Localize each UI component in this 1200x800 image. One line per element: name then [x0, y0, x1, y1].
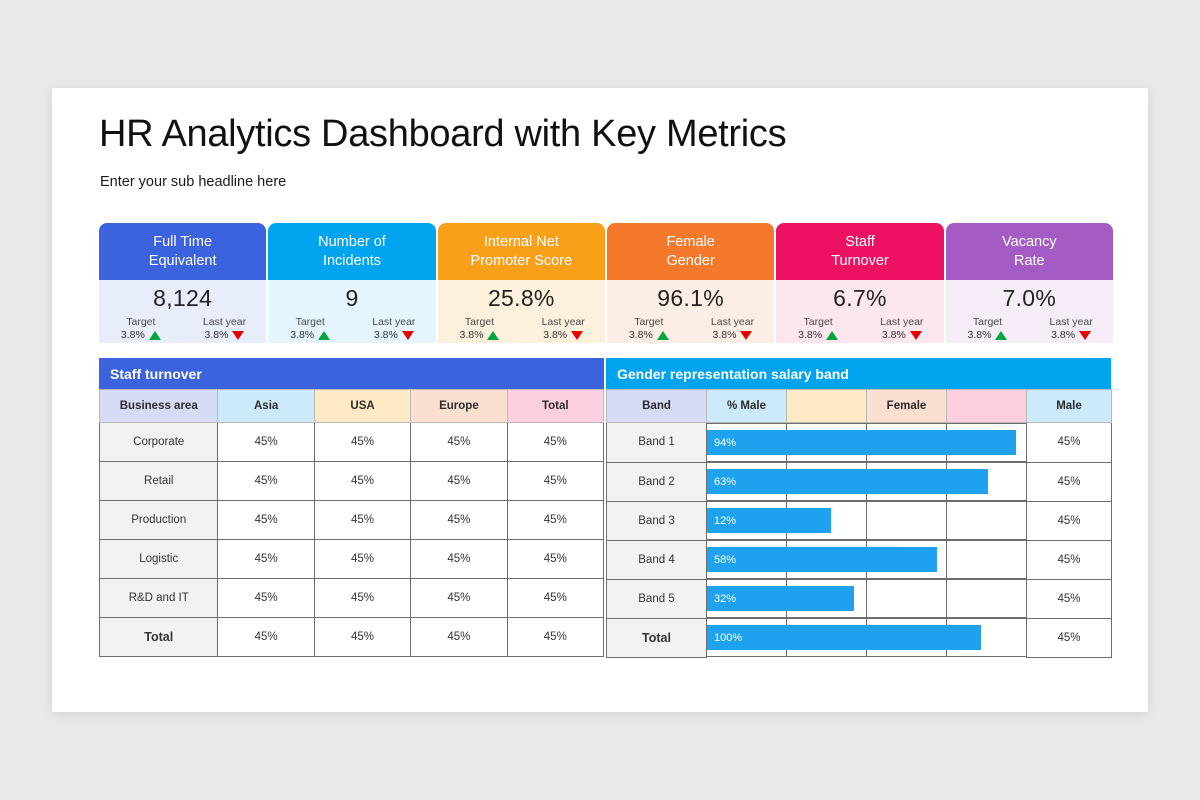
table-cell: 45% — [411, 423, 507, 462]
kpi-lastyear-comparison: 3.8% — [521, 329, 605, 343]
gridline — [947, 541, 1026, 578]
bar-track: 100% — [707, 618, 1026, 657]
table-header-row: Business areaAsiaUSAEuropeTotal — [100, 390, 604, 423]
kpi-target-comparison: 3.8% — [946, 329, 1030, 343]
kpi-lastyear-comparison: 3.8% — [1029, 329, 1113, 343]
table-row: Total45%45%45%45% — [100, 618, 604, 657]
arrow-down-icon — [1079, 331, 1091, 340]
kpi-title-line1: Number of — [318, 234, 386, 250]
row-label: Band 5 — [607, 579, 707, 618]
arrow-down-icon — [740, 331, 752, 340]
kpi-lastyear-block: Last year3.8% — [352, 315, 436, 343]
kpi-target-block: Target3.8% — [438, 315, 522, 343]
page-subtitle: Enter your sub headline here — [100, 174, 286, 190]
kpi-title-line2: Promoter Score — [471, 253, 573, 269]
table-cell: 45% — [507, 501, 603, 540]
kpi-card-row: Full TimeEquivalent8,124Target3.8%Last y… — [99, 223, 1113, 343]
kpi-target-comparison: 3.8% — [607, 329, 691, 343]
row-label: Band 3 — [607, 501, 707, 540]
kpi-card[interactable]: Full TimeEquivalent8,124Target3.8%Last y… — [99, 223, 266, 343]
kpi-card-header: Internal NetPromoter Score — [438, 223, 605, 280]
kpi-card-body: 8,124Target3.8%Last year3.8% — [99, 280, 266, 343]
table-cell: 45% — [411, 540, 507, 579]
arrow-up-icon — [318, 331, 330, 340]
arrow-up-icon — [657, 331, 669, 340]
row-label: Total — [607, 618, 707, 657]
row-label: Total — [100, 618, 218, 657]
column-header[interactable]: Female — [867, 390, 947, 423]
table-cell: 45% — [411, 462, 507, 501]
kpi-target-label: Target — [99, 315, 183, 329]
staff-turnover-title: Staff turnover — [99, 358, 604, 389]
table-cell: 45% — [411, 501, 507, 540]
kpi-title-line2: Gender — [666, 253, 714, 269]
kpi-target-comparison: 3.8% — [776, 329, 860, 343]
column-header[interactable]: Total — [507, 390, 603, 423]
arrow-up-icon — [149, 331, 161, 340]
gridline — [947, 580, 1026, 617]
bar-value-label: 63% — [707, 476, 736, 488]
table-cell: 45% — [507, 579, 603, 618]
row-label: Band 4 — [607, 540, 707, 579]
arrow-down-icon — [402, 331, 414, 340]
kpi-lastyear-value: 3.8% — [205, 329, 229, 343]
kpi-target-label: Target — [946, 315, 1030, 329]
bar-chart-cell: 63% — [707, 462, 1027, 501]
kpi-title-line2: Turnover — [831, 253, 888, 269]
table-row: Band 312%45% — [607, 501, 1112, 540]
arrow-up-icon — [995, 331, 1007, 340]
arrow-down-icon — [910, 331, 922, 340]
table-row: Band 194%45% — [607, 423, 1112, 463]
kpi-target-block: Target3.8% — [268, 315, 352, 343]
table-cell: 45% — [218, 501, 314, 540]
table-cell: 45% — [314, 540, 410, 579]
bar-value-label: 12% — [707, 515, 736, 527]
kpi-target-value: 3.8% — [460, 329, 484, 343]
kpi-lastyear-comparison: 3.8% — [860, 329, 944, 343]
kpi-comparison-row: Target3.8%Last year3.8% — [438, 315, 605, 343]
bar-value-label: 100% — [707, 632, 742, 644]
column-header[interactable] — [787, 390, 867, 423]
bar-chart-cell: 100% — [707, 618, 1027, 657]
column-header[interactable]: USA — [314, 390, 410, 423]
kpi-target-value: 3.8% — [629, 329, 653, 343]
table-cell: 45% — [314, 579, 410, 618]
column-header[interactable]: Band — [607, 390, 707, 423]
column-header[interactable]: Europe — [411, 390, 507, 423]
kpi-target-label: Target — [607, 315, 691, 329]
kpi-card-body: 96.1%Target3.8%Last year3.8% — [607, 280, 774, 343]
table-cell: 45% — [411, 618, 507, 657]
tables-region: Staff turnover Business areaAsiaUSAEurop… — [99, 358, 1113, 658]
kpi-target-comparison: 3.8% — [99, 329, 183, 343]
kpi-comparison-row: Target3.8%Last year3.8% — [99, 315, 266, 343]
table-row: Production45%45%45%45% — [100, 501, 604, 540]
arrow-up-icon — [826, 331, 838, 340]
kpi-title-line2: Rate — [1014, 253, 1045, 269]
kpi-target-block: Target3.8% — [946, 315, 1030, 343]
kpi-target-value: 3.8% — [968, 329, 992, 343]
bar-chart-cell: 12% — [707, 501, 1027, 540]
kpi-lastyear-label: Last year — [183, 315, 267, 329]
staff-turnover-table: Business areaAsiaUSAEuropeTotal Corporat… — [99, 389, 604, 657]
bar-fill: 12% — [707, 508, 831, 533]
kpi-lastyear-value: 3.8% — [543, 329, 567, 343]
table-cell: 45% — [1027, 540, 1112, 579]
row-label: Production — [100, 501, 218, 540]
table-cell: 45% — [1027, 462, 1112, 501]
kpi-card[interactable]: Internal NetPromoter Score25.8%Target3.8… — [438, 223, 605, 343]
row-label: Retail — [100, 462, 218, 501]
kpi-target-comparison: 3.8% — [268, 329, 352, 343]
staff-turnover-panel: Staff turnover Business areaAsiaUSAEurop… — [99, 358, 604, 658]
kpi-comparison-row: Target3.8%Last year3.8% — [946, 315, 1113, 343]
kpi-value: 6.7% — [833, 285, 887, 312]
kpi-lastyear-block: Last year3.8% — [521, 315, 605, 343]
table-cell: 45% — [1027, 618, 1112, 657]
table-row: Band 263%45% — [607, 462, 1112, 501]
table-header-row: Band% MaleFemaleMale — [607, 390, 1112, 423]
table-cell: 45% — [314, 423, 410, 462]
kpi-lastyear-label: Last year — [1029, 315, 1113, 329]
bar-fill: 58% — [707, 547, 937, 572]
kpi-card-body: 9Target3.8%Last year3.8% — [268, 280, 435, 343]
kpi-lastyear-value: 3.8% — [882, 329, 906, 343]
kpi-target-label: Target — [268, 315, 352, 329]
table-cell: 45% — [507, 423, 603, 462]
kpi-lastyear-block: Last year3.8% — [691, 315, 775, 343]
kpi-value: 7.0% — [1002, 285, 1056, 312]
kpi-lastyear-comparison: 3.8% — [183, 329, 267, 343]
table-row: Retail45%45%45%45% — [100, 462, 604, 501]
kpi-target-value: 3.8% — [798, 329, 822, 343]
kpi-lastyear-label: Last year — [860, 315, 944, 329]
kpi-lastyear-comparison: 3.8% — [691, 329, 775, 343]
kpi-title-line1: Staff — [845, 234, 875, 250]
kpi-comparison-row: Target3.8%Last year3.8% — [607, 315, 774, 343]
slide-canvas: HR Analytics Dashboard with Key Metrics … — [52, 88, 1148, 712]
row-label: Band 2 — [607, 462, 707, 501]
bar-fill: 63% — [707, 469, 988, 494]
kpi-card-body: 6.7%Target3.8%Last year3.8% — [776, 280, 943, 343]
column-header[interactable]: Business area — [100, 390, 218, 423]
column-header[interactable]: Male — [1027, 390, 1112, 423]
table-cell: 45% — [218, 579, 314, 618]
kpi-lastyear-value: 3.8% — [1051, 329, 1075, 343]
table-row: Band 532%45% — [607, 579, 1112, 618]
table-cell: 45% — [218, 423, 314, 462]
kpi-card-body: 25.8%Target3.8%Last year3.8% — [438, 280, 605, 343]
kpi-lastyear-label: Last year — [691, 315, 775, 329]
kpi-target-label: Target — [438, 315, 522, 329]
bar-fill: 100% — [707, 625, 981, 650]
bar-fill: 32% — [707, 586, 854, 611]
table-cell: 45% — [314, 618, 410, 657]
bar-track: 32% — [707, 579, 1026, 618]
table-row: Total100%45% — [607, 618, 1112, 657]
table-cell: 45% — [507, 540, 603, 579]
gridline — [867, 502, 947, 539]
kpi-lastyear-block: Last year3.8% — [183, 315, 267, 343]
kpi-card[interactable]: Number ofIncidents9Target3.8%Last year3.… — [268, 223, 435, 343]
kpi-card[interactable]: VacancyRate7.0%Target3.8%Last year3.8% — [946, 223, 1113, 343]
kpi-lastyear-value: 3.8% — [713, 329, 737, 343]
table-cell: 45% — [1027, 423, 1112, 463]
kpi-value: 96.1% — [657, 285, 724, 312]
kpi-comparison-row: Target3.8%Last year3.8% — [776, 315, 943, 343]
kpi-lastyear-label: Last year — [521, 315, 605, 329]
table-row: R&D and IT45%45%45%45% — [100, 579, 604, 618]
kpi-value: 8,124 — [153, 285, 212, 312]
bar-value-label: 58% — [707, 554, 736, 566]
row-label: Logistic — [100, 540, 218, 579]
table-cell: 45% — [218, 540, 314, 579]
kpi-title-line1: Full Time — [153, 234, 212, 250]
bar-track: 58% — [707, 540, 1026, 579]
kpi-title-line2: Equivalent — [149, 253, 217, 269]
kpi-card-header: Full TimeEquivalent — [99, 223, 266, 280]
kpi-title-line1: Female — [666, 234, 714, 250]
kpi-value: 25.8% — [488, 285, 555, 312]
bar-track: 63% — [707, 462, 1026, 501]
bar-value-label: 94% — [707, 437, 736, 449]
page-title: HR Analytics Dashboard with Key Metrics — [99, 113, 786, 156]
table-cell: 45% — [218, 618, 314, 657]
kpi-lastyear-block: Last year3.8% — [860, 315, 944, 343]
row-label: Corporate — [100, 423, 218, 462]
table-body: Band 194%45%Band 263%45%Band 312%45%Band… — [607, 423, 1112, 658]
bar-fill: 94% — [707, 430, 1016, 455]
kpi-lastyear-comparison: 3.8% — [352, 329, 436, 343]
bar-chart-cell: 94% — [707, 423, 1027, 463]
gender-representation-title: Gender representation salary band — [606, 358, 1111, 389]
kpi-card-header: Number ofIncidents — [268, 223, 435, 280]
kpi-card-body: 7.0%Target3.8%Last year3.8% — [946, 280, 1113, 343]
table-cell: 45% — [314, 501, 410, 540]
kpi-target-block: Target3.8% — [99, 315, 183, 343]
kpi-lastyear-label: Last year — [352, 315, 436, 329]
kpi-target-comparison: 3.8% — [438, 329, 522, 343]
row-label: Band 1 — [607, 423, 707, 463]
kpi-card[interactable]: FemaleGender96.1%Target3.8%Last year3.8% — [607, 223, 774, 343]
column-header[interactable]: Asia — [218, 390, 314, 423]
gender-representation-table: Band% MaleFemaleMale Band 194%45%Band 26… — [606, 389, 1112, 658]
arrow-down-icon — [571, 331, 583, 340]
table-row: Corporate45%45%45%45% — [100, 423, 604, 462]
arrow-up-icon — [487, 331, 499, 340]
bar-track: 12% — [707, 501, 1026, 540]
kpi-card-header: FemaleGender — [607, 223, 774, 280]
row-label: R&D and IT — [100, 579, 218, 618]
bar-chart-cell: 58% — [707, 540, 1027, 579]
table-row: Band 458%45% — [607, 540, 1112, 579]
table-cell: 45% — [411, 579, 507, 618]
kpi-lastyear-value: 3.8% — [374, 329, 398, 343]
gender-representation-panel: Gender representation salary band Band% … — [606, 358, 1111, 658]
table-cell: 45% — [1027, 579, 1112, 618]
kpi-title-line1: Vacancy — [1002, 234, 1057, 250]
column-header[interactable] — [947, 390, 1027, 423]
table-cell: 45% — [1027, 501, 1112, 540]
kpi-card-header: VacancyRate — [946, 223, 1113, 280]
table-cell: 45% — [507, 618, 603, 657]
table-cell: 45% — [314, 462, 410, 501]
kpi-card[interactable]: StaffTurnover6.7%Target3.8%Last year3.8% — [776, 223, 943, 343]
bar-track: 94% — [707, 423, 1026, 462]
arrow-down-icon — [232, 331, 244, 340]
kpi-target-block: Target3.8% — [607, 315, 691, 343]
table-cell: 45% — [507, 462, 603, 501]
kpi-title-line1: Internal Net — [484, 234, 559, 250]
column-header[interactable]: % Male — [707, 390, 787, 423]
kpi-value: 9 — [345, 285, 358, 312]
bar-value-label: 32% — [707, 593, 736, 605]
kpi-target-value: 3.8% — [121, 329, 145, 343]
gridline — [867, 580, 947, 617]
bar-chart-cell: 32% — [707, 579, 1027, 618]
kpi-target-block: Target3.8% — [776, 315, 860, 343]
kpi-lastyear-block: Last year3.8% — [1029, 315, 1113, 343]
kpi-comparison-row: Target3.8%Last year3.8% — [268, 315, 435, 343]
table-cell: 45% — [218, 462, 314, 501]
kpi-card-header: StaffTurnover — [776, 223, 943, 280]
table-row: Logistic45%45%45%45% — [100, 540, 604, 579]
table-body: Corporate45%45%45%45%Retail45%45%45%45%P… — [100, 423, 604, 657]
gridline — [947, 502, 1026, 539]
kpi-target-value: 3.8% — [290, 329, 314, 343]
kpi-target-label: Target — [776, 315, 860, 329]
kpi-title-line2: Incidents — [323, 253, 381, 269]
